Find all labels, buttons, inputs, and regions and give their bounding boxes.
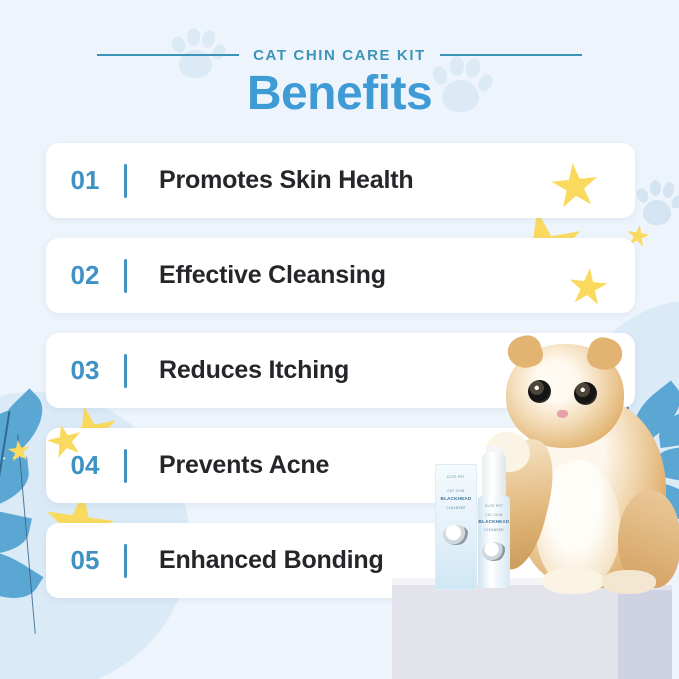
divider bbox=[124, 544, 127, 578]
benefit-card-2[interactable]: 02 Effective Cleansing bbox=[46, 238, 635, 313]
star-tiny-left-edge bbox=[7, 439, 31, 463]
benefit-card-4[interactable]: 04 Prevents Acne bbox=[46, 428, 635, 503]
divider bbox=[124, 259, 127, 293]
kicker-text: CAT CHIN CARE KIT bbox=[253, 47, 426, 64]
divider bbox=[124, 354, 127, 388]
benefit-number: 04 bbox=[46, 450, 124, 481]
benefit-label: Promotes Skin Health bbox=[159, 166, 413, 195]
benefit-label: Enhanced Bonding bbox=[159, 546, 384, 575]
paw-print-right-edge bbox=[637, 178, 679, 230]
header: CAT CHIN CARE KIT Benefits bbox=[0, 0, 679, 130]
benefit-label: Effective Cleansing bbox=[159, 261, 386, 290]
kicker-row: CAT CHIN CARE KIT bbox=[0, 45, 679, 65]
benefit-number: 05 bbox=[46, 545, 124, 576]
infographic-canvas: CAT CHIN CARE KIT Benefits 01 Promotes S… bbox=[0, 0, 679, 679]
benefits-list: 01 Promotes Skin Health 02 Effective Cle… bbox=[46, 143, 635, 618]
benefit-number: 02 bbox=[46, 260, 124, 291]
benefit-label: Prevents Acne bbox=[159, 451, 329, 480]
page-title: Benefits bbox=[0, 66, 679, 121]
benefit-label: Reduces Itching bbox=[159, 356, 349, 385]
benefit-card-1[interactable]: 01 Promotes Skin Health bbox=[46, 143, 635, 218]
benefit-number: 03 bbox=[46, 355, 124, 386]
divider bbox=[124, 449, 127, 483]
benefit-card-5[interactable]: 05 Enhanced Bonding bbox=[46, 523, 635, 598]
divider bbox=[124, 164, 127, 198]
benefit-card-3[interactable]: 03 Reduces Itching bbox=[46, 333, 635, 408]
horizontal-rule-left bbox=[97, 54, 239, 56]
benefit-number: 01 bbox=[46, 165, 124, 196]
horizontal-rule-right bbox=[440, 54, 582, 56]
